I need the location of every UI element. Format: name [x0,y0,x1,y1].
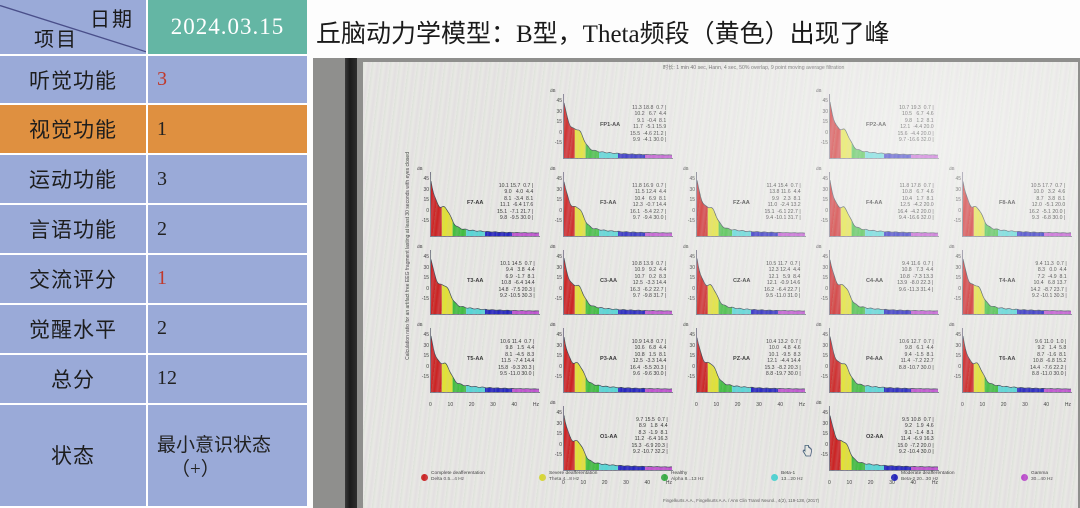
yaxis-line [563,328,564,392]
spectrum-plot [564,252,672,314]
status-line-1: 最小意识状态 [157,434,271,458]
spectrum-panel-p4-aa: dB4530150-15P4-AA10.6 12.7 0.7 | 9.8 6.1… [814,322,947,400]
row-label-total: 总分 [0,355,148,403]
spectrum-plot [963,330,1071,392]
spectrum-panel-t6-aa: dB4530150-15T6-AA 9.6 11.0 1.0 | 9.2 1.4… [947,322,1078,400]
yaxis-line [563,94,564,158]
band-area-2 [453,221,467,236]
spectrum-plot [963,252,1071,314]
xaxis-line [696,314,806,315]
yaxis-line [563,250,564,314]
band-area-2 [985,221,999,236]
xaxis-line [430,314,540,315]
yaxis-unit-label: dB [949,244,955,249]
xaxis-line [962,314,1072,315]
legend-item-beta-1: Beta-113...20 Hz [771,471,803,482]
legend-item-severe-deafferentation: Severe deafferentationTheta 4...8 Hz [539,471,597,482]
xaxis-line [829,314,939,315]
yaxis-ticks: 4530150-15 [548,252,562,305]
spectrum-plot [830,174,938,236]
yaxis-line [962,172,963,236]
yaxis-unit-label: dB [683,322,689,327]
yaxis-unit-label: dB [683,166,689,171]
xaxis-line [962,236,1072,237]
yaxis-unit-label: dB [550,322,556,327]
yaxis-ticks: 4530150-15 [814,174,828,227]
legend-item-gamma: Gamma30...40 Hz [1021,471,1053,482]
table-row-highlighted: 视觉功能 1 [0,105,307,155]
corner-item-label: 项目 [34,23,78,52]
legend-item-healthy: HealthyAlpha 8...13 Hz [661,471,704,482]
row-value-motor: 3 [148,155,307,203]
table-row: 觉醒水平 2 [0,305,307,355]
legend-label: Severe deafferentationTheta 4...8 Hz [549,471,597,482]
spectrum-plot [830,330,938,392]
monitor-photo: 时长: 1 min 40 sec, Hann, 4 sec, 50% overl… [313,58,1080,508]
band-area-2 [586,299,600,314]
yaxis-line [829,250,830,314]
yaxis-unit-label: dB [550,400,556,405]
band-area-2 [852,142,866,158]
band-area-1 [841,363,852,392]
yaxis-ticks: 4530150-15 [814,408,828,461]
yaxis-ticks: 4530150-15 [814,330,828,383]
yaxis-unit-label: dB [816,400,822,405]
yaxis-unit-label: dB [683,244,689,249]
xaxis-line [696,392,806,393]
row-value-auditory: 3 [148,56,307,104]
hand-pointer-cursor-icon [801,444,813,458]
spectrum-panel-pz-aa: dB4530150-15PZ-AA10.4 13.2 0.7 | 10.0 4.… [681,322,814,400]
band-area-0 [431,259,442,314]
band-area-1 [575,129,586,158]
table-row: 言语功能 2 [0,205,307,255]
row-label-verbal: 言语功能 [0,205,148,253]
spectrum-panel-t4-aa: dB4530150-15T4-AA 9.4 11.3 0.7 | 8.3 0.0… [947,244,1078,322]
spectrum-plot [431,330,539,392]
band-area-2 [586,377,600,392]
yaxis-line [962,250,963,314]
assessment-table: 日期 项目 2024.03.15 听觉功能 3 视觉功能 1 运动功能 3 言语… [0,0,307,508]
yaxis-ticks: 4530150-15 [548,174,562,227]
spectrum-plot [830,96,938,158]
yaxis-unit-label: dB [816,88,822,93]
spectrum-plot [564,330,672,392]
xaxis-line [563,158,673,159]
acquisition-parameters-text: 时长: 1 min 40 sec, Hann, 4 sec, 50% overl… [663,64,844,71]
band-area-0 [697,338,708,392]
row-value-status: 最小意识状态 （+） [148,405,307,506]
band-area-1 [841,129,852,158]
legend-color-dot [891,474,898,481]
row-label-arousal: 觉醒水平 [0,305,148,353]
band-area-0 [830,416,841,470]
yaxis-unit-label: dB [816,244,822,249]
legend-item-complete-deafferentation: Complete deafferentationDelta 0.5...4 Hz [421,471,485,482]
spectra-panel-grid: dB4530150-15FP1-AA11.3 18.8 0.7 | 10.2 6… [415,88,1075,460]
spectrum-plot [697,330,805,392]
band-area-1 [575,206,586,236]
yaxis-line [563,406,564,470]
spectrum-plot [564,96,672,158]
yaxis-ticks: 4530150-15 [947,174,961,227]
spectrum-panel-f8-aa: dB4530150-15F8-AA10.5 17.7 0.7 | 10.0 3.… [947,166,1078,244]
table-row: 运动功能 3 [0,155,307,205]
legend-color-dot [771,474,778,481]
spectrum-plot [564,174,672,236]
row-value-visual: 1 [148,105,307,153]
spectrum-panel-fp2-aa: dB4530150-15FP2-AA10.7 19.3 0.7 | 10.5 6… [814,88,947,166]
yaxis-unit-label: dB [550,166,556,171]
band-area-2 [453,376,467,392]
spectrum-plot [431,252,539,314]
band-area-1 [708,362,719,392]
yaxis-ticks: 4530150-15 [814,96,828,149]
band-area-1 [575,285,586,314]
yaxis-unit-label: dB [816,166,822,171]
xaxis-line [563,392,673,393]
row-value-communication: 1 [148,255,307,303]
xaxis-line [430,236,540,237]
legend-item-moderate-deafferentation: Moderate deafferentationBeta-2 20...30 H… [891,471,955,482]
yaxis-line [696,328,697,392]
band-area-2 [719,298,733,314]
yaxis-line [430,172,431,236]
row-label-communication: 交流评分 [0,255,148,303]
eeg-spectra-screen: 时长: 1 min 40 sec, Hann, 4 sec, 50% overl… [363,62,1078,508]
yaxis-line [962,328,963,392]
xaxis-line [696,236,806,237]
band-area-0 [564,182,575,236]
yaxis-ticks: 4530150-15 [681,174,695,227]
legend-color-dot [1021,474,1028,481]
band-area-1 [841,284,852,314]
yaxis-unit-label: dB [949,166,955,171]
band-area-1 [442,363,453,392]
xaxis-ticks: 010203040Hz [695,402,805,408]
yaxis-line [430,250,431,314]
spectrum-plot [564,408,672,470]
spectrum-plot [830,408,938,470]
spectrum-panel-c3-aa: dB4530150-15C3-AA10.8 13.9 0.7 | 10.9 9.… [548,244,681,322]
yaxis-ticks: 4530150-15 [548,330,562,383]
spectrum-panel-cz-aa: dB4530150-15CZ-AA10.5 11.7 0.7 | 12.3 12… [681,244,814,322]
yaxis-unit-label: dB [417,244,423,249]
yaxis-line [829,94,830,158]
band-area-2 [985,376,999,392]
xaxis-line [563,314,673,315]
yaxis-ticks: 4530150-15 [947,252,961,305]
yaxis-unit-label: dB [550,88,556,93]
xaxis-ticks: 010203040Hz [961,402,1071,408]
legend-color-dot [539,474,546,481]
spectrum-plot [697,252,805,314]
band-area-2 [852,220,866,236]
monitor-bezel [345,58,357,508]
spectrum-panel-t3-aa: dB4530150-15T3-AA10.1 14.5 0.7 | 9.4 3.8… [415,244,548,322]
band-area-1 [841,207,852,236]
yaxis-line [696,250,697,314]
band-area-1 [708,207,719,236]
xaxis-line [829,392,939,393]
spectrum-plot [697,174,805,236]
yaxis-line [563,172,564,236]
row-value-arousal: 2 [148,305,307,353]
row-label-motor: 运动功能 [0,155,148,203]
table-row: 交流评分 1 [0,255,307,305]
spectrum-panel-t5-aa: dB4530150-15T5-AA10.6 11.4 0.7 | 9.8 1.5… [415,322,548,400]
legend-label: Moderate deafferentationBeta-2 20...30 H… [901,471,955,482]
corner-date-label: 日期 [90,3,134,32]
slide-root: 日期 项目 2024.03.15 听觉功能 3 视觉功能 1 运动功能 3 言语… [0,0,1080,508]
row-value-verbal: 2 [148,205,307,253]
yaxis-ticks: 4530150-15 [681,330,695,383]
yaxis-ticks: 4530150-15 [415,330,429,383]
yaxis-unit-label: dB [949,322,955,327]
yaxis-ticks: 4530150-15 [681,252,695,305]
band-area-1 [974,363,985,392]
row-label-visual: 视觉功能 [0,105,148,153]
yaxis-ticks: 4530150-15 [814,252,828,305]
yaxis-ticks: 4530150-15 [415,252,429,305]
spectrum-panel-fp1-aa: dB4530150-15FP1-AA11.3 18.8 0.7 | 10.2 6… [548,88,681,166]
xaxis-line [829,158,939,159]
yaxis-ticks: 4530150-15 [548,408,562,461]
spectrum-panel-fz-aa: dB4530150-15FZ-AA11.4 15.4 0.7 | 13.8 11… [681,166,814,244]
yaxis-ticks: 4530150-15 [548,96,562,149]
yaxis-ticks: 4530150-15 [947,330,961,383]
xaxis-line [430,392,540,393]
yaxis-unit-label: dB [550,244,556,249]
legend-label: Gamma30...40 Hz [1031,471,1053,482]
xaxis-ticks: 010203040Hz [429,402,539,408]
table-header-row: 日期 项目 2024.03.15 [0,0,307,56]
yaxis-line [696,172,697,236]
spectrum-plot [431,174,539,236]
frequency-band-legend: Complete deafferentationDelta 0.5...4 Hz… [421,464,1078,490]
table-row-total: 总分 12 [0,355,307,405]
yaxis-line [829,328,830,392]
table-corner-header: 日期 项目 [0,0,148,54]
row-value-total: 12 [148,355,307,403]
xaxis-line [829,236,939,237]
spectrum-panel-f7-aa: dB4530150-15F7-AA10.1 15.7 0.7 | 9.0 4.0… [415,166,548,244]
legend-label: HealthyAlpha 8...13 Hz [671,471,704,482]
yaxis-unit-label: dB [816,322,822,327]
yaxis-ticks: 4530150-15 [415,174,429,227]
band-area-1 [442,284,453,314]
spectrum-panel-c4-aa: dB4530150-15C4-AA 9.4 11.6 0.7 | 10.8 7.… [814,244,947,322]
spectrum-plot [963,174,1071,236]
spectrum-plot [830,252,938,314]
table-row-status: 状态 最小意识状态 （+） [0,405,307,508]
citation-text: Fingelkurts A.A., Fingelkurts A.A. / Ann… [663,498,819,503]
xaxis-line [962,392,1072,393]
xaxis-line [563,236,673,237]
row-label-auditory: 听觉功能 [0,56,148,104]
legend-label: Beta-113...20 Hz [781,471,803,482]
yaxis-unit-label: dB [417,322,423,327]
yaxis-unit-label: dB [417,166,423,171]
spectrum-panel-f3-aa: dB4530150-15F3-AA11.8 16.9 0.7 | 11.5 12… [548,166,681,244]
band-area-1 [974,285,985,314]
row-label-status: 状态 [0,405,148,506]
yaxis-line [829,406,830,470]
yaxis-caption-text: Calculation ratio for an artifact free E… [405,152,411,360]
page-title: 丘脑动力学模型：B型，Theta频段（黄色）出现了峰 [316,14,1076,50]
status-line-2: （+） [157,458,220,482]
spectrum-panel-f4-aa: dB4530150-15F4-AA11.8 17.8 0.7 | 10.8 6.… [814,166,947,244]
legend-label: Complete deafferentationDelta 0.5...4 Hz [431,471,485,482]
legend-color-dot [421,474,428,481]
yaxis-line [430,328,431,392]
spectrum-panel-p3-aa: dB4530150-15P3-AA10.9 14.8 0.7 | 10.6 6.… [548,322,681,400]
yaxis-line [829,172,830,236]
table-row: 听觉功能 3 [0,56,307,106]
legend-color-dot [661,474,668,481]
header-date-value: 2024.03.15 [148,0,307,54]
